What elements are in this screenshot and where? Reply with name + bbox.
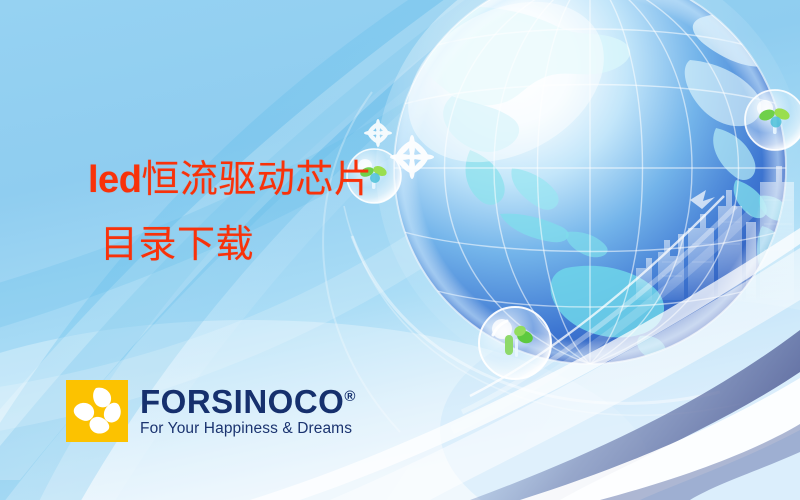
bubble-pinwheel-top [347,149,401,203]
bubble-pinwheel-right [745,90,800,150]
brand-tagline: For Your Happiness & Dreams [140,421,355,437]
brand-name: FORSINOCO [140,383,344,420]
brand-wordmark: FORSINOCO® [140,385,355,418]
registered-mark: ® [344,388,355,405]
brand-logo: FORSINOCO® For Your Happiness & Dreams [66,380,355,442]
forsinoco-pinwheel-mark [66,380,128,442]
promo-banner: led恒流驱动芯片 目录下载 FORSINOCO® For Your Happi… [0,0,800,500]
bubble-sprout-bottom [479,307,551,379]
logo-wordmark-group: FORSINOCO® For Your Happiness & Dreams [140,385,355,437]
